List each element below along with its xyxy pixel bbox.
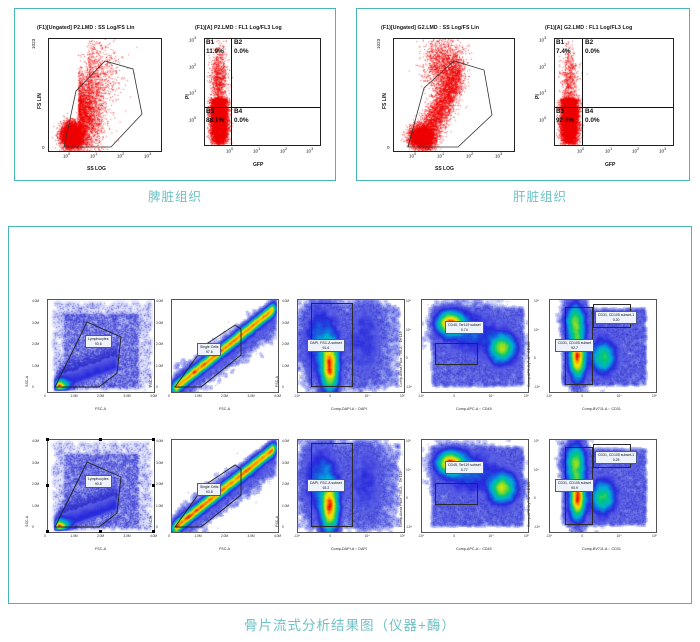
x-tick-2: 10⁴ <box>489 534 494 538</box>
selection-handle[interactable] <box>46 484 49 487</box>
plot-title: (F1)[Ungated] P2.LMD : SS Log/FS Lin <box>37 25 135 31</box>
quadrant-b4-value: 0.0% <box>585 117 600 124</box>
y-tick-4: 0 <box>32 385 34 389</box>
x-axis-label: SS LOG <box>87 166 106 172</box>
gate-box-cd45-ter119[interactable] <box>435 483 478 505</box>
y-tick-2: 0 <box>534 356 536 360</box>
gate-label-dapi-fsc-a-subset[interactable]: DAPI, FSC-A subset91.6 <box>307 339 345 352</box>
y-axis-label: SSC-A <box>25 376 29 387</box>
x-axis-label: SS LOG <box>435 166 454 172</box>
x-tick-0: -10⁴ <box>546 394 552 398</box>
gate-label-value: 0.25 <box>598 458 634 463</box>
quadrant-b2-value: 0.0% <box>585 48 600 55</box>
gate-polygon-single-cells[interactable] <box>171 299 277 391</box>
gate-polygon-single-cells[interactable] <box>171 439 277 531</box>
x-axis-label: Comp-BV711-A :: CD31 <box>582 547 621 551</box>
gate-label-value: 93.6 <box>88 342 109 347</box>
gate-label-dapi-fsc-a-subset[interactable]: DAPI, FSC-A subset93.2 <box>307 479 345 492</box>
y-tick-4: 0 <box>282 525 284 529</box>
x-tick-1: 0 <box>329 534 331 538</box>
y-tick-0: 10⁵ <box>406 299 411 303</box>
y-tick-0: 10⁵ <box>406 439 411 443</box>
x-axis-label: GFP <box>605 162 615 168</box>
y-tick-0: 4.0M <box>282 299 289 303</box>
x-tick-0: 100 <box>226 147 233 154</box>
y-tick-4: 0 <box>32 525 34 529</box>
x-tick-1: 1.0M <box>195 394 202 398</box>
plot-area <box>393 38 515 152</box>
y-tick-3: -10⁴ <box>406 525 412 529</box>
gate-label-cd45-ter119-subset[interactable]: CD45, Ter119 subset0.77 <box>445 461 484 474</box>
gate-label-value: 93.2 <box>310 486 342 491</box>
y-tick-2: 0 <box>406 356 408 360</box>
y-tick-0: 10⁵ <box>534 439 539 443</box>
x-axis-label: Comp-DAPI-A :: DAPI <box>331 407 367 411</box>
y-tick-2: 0 <box>406 496 408 500</box>
y-axis-label: SSC-A <box>25 516 29 527</box>
y-tick-3: 1.0M <box>32 504 39 508</box>
x-tick-3: 3.0M <box>248 394 255 398</box>
x-axis-label: Comp-APC-A :: CD45 <box>456 407 492 411</box>
x-tick-0: 0 <box>44 534 46 538</box>
x-axis-label: Comp-DAPI-A :: DAPI <box>331 547 367 551</box>
y-axis-label: PI <box>535 94 541 99</box>
quadrant-b3-value: 88.1% <box>206 117 224 124</box>
y-tick-1: 10⁴ <box>406 328 411 332</box>
quadrant-b1-value: 7.4% <box>556 48 571 55</box>
x-tick-4: 4.0M <box>274 394 281 398</box>
x-axis-label: FSC-A <box>95 547 106 551</box>
y-tick-0: 4.0M <box>32 439 39 443</box>
y-tick-1: 10⁴ <box>534 468 539 472</box>
x-tick-3: 10⁵ <box>652 534 657 538</box>
gate-label-lymphocytes[interactable]: Lymphocytes93.6 <box>85 335 112 348</box>
y-tick-1: 3.0M <box>156 321 163 325</box>
x-tick-2: 2.0M <box>221 534 228 538</box>
y-tick-1: 3.0M <box>32 321 39 325</box>
gate-label-lymphocytes[interactable]: Lymphocytes90.8 <box>85 475 112 488</box>
y-tick-3: -10⁴ <box>534 525 540 529</box>
x-tick-4: 4.0M <box>274 534 281 538</box>
gate-polygon[interactable] <box>49 39 161 151</box>
x-tick-1: 1.0M <box>71 394 78 398</box>
y-tick-0: 10⁵ <box>534 299 539 303</box>
selection-handle[interactable] <box>152 438 155 441</box>
bone-chip-panel: SSC-AFSC-A01.0M2.0M3.0M4.0M4.0M3.0M2.0M1… <box>8 226 692 604</box>
x-tick-0: -10⁴ <box>546 534 552 538</box>
quadrant-b4-name: B4 <box>585 108 593 115</box>
spleen-panel: (F1)[Ungated] P2.LMD : SS Log/FS Lin 102… <box>14 8 336 181</box>
x-tick-0: 100 <box>577 147 584 154</box>
y-tick-3: -10⁴ <box>406 385 412 389</box>
gate-label-value: 92.7 <box>558 346 591 351</box>
y-tick-1: 3.0M <box>156 461 163 465</box>
x-tick-1: 101 <box>437 152 444 159</box>
x-tick-3: 10⁵ <box>524 394 529 398</box>
x-tick-3: 103 <box>144 152 151 159</box>
x-tick-4: 4.0M <box>150 534 157 538</box>
y-tick-1: 3.0M <box>32 461 39 465</box>
y-axis-label: Comp-APC-Cy7-A :: CD105 <box>527 342 531 388</box>
x-tick-0: -10⁴ <box>294 534 300 538</box>
x-tick-2: 2.0M <box>97 394 104 398</box>
plot-title: (F1)[A] G2.LMD : FL1 Log/FL3 Log <box>545 25 632 31</box>
x-tick-2: 10⁴ <box>365 394 370 398</box>
quad-vertical-divider[interactable] <box>231 39 232 145</box>
x-tick-3: 3.0M <box>248 534 255 538</box>
x-tick-1: 1.0M <box>195 534 202 538</box>
x-tick-2: 102 <box>280 147 287 154</box>
x-tick-0: 0 <box>168 534 170 538</box>
gate-label-cd31-cd105-subset[interactable]: CD31, CD105 subset92.7 <box>555 339 594 352</box>
y-tick-0: 4.0M <box>156 299 163 303</box>
x-tick-3: 10⁵ <box>652 394 657 398</box>
y-tick-top: 1023 <box>31 39 36 49</box>
y-tick-0: 100 <box>189 116 196 123</box>
quadrant-b1-name: B1 <box>206 39 214 46</box>
x-axis-label: FSC-A <box>219 547 230 551</box>
x-tick-1: 101 <box>253 147 260 154</box>
y-tick-3: 1.0M <box>32 364 39 368</box>
y-tick-bottom: 0 <box>42 145 45 150</box>
quad-horizontal-divider[interactable] <box>555 107 673 108</box>
x-axis-label: GFP <box>253 162 263 168</box>
plot-liver-scatter: (F1)[Ungated] G2.LMD : SS Log/FS Lin 102… <box>357 9 525 182</box>
y-axis-label: Comp-Alexa Fluor 700-A :: Ter119 <box>399 471 403 527</box>
gate-label-value: 91.6 <box>310 346 342 351</box>
y-tick-2: 102 <box>539 63 546 70</box>
x-tick-1: 101 <box>90 152 97 159</box>
y-axis-label: FSC-A <box>275 376 279 387</box>
quadrant-b3-name: B3 <box>556 108 564 115</box>
y-tick-2: 0 <box>534 496 536 500</box>
quadrant-b3-value: 92.6% <box>556 117 574 124</box>
y-tick-2: 2.0M <box>282 482 289 486</box>
x-tick-2: 10⁴ <box>489 394 494 398</box>
caption-bone-chip: 骨片流式分析结果图（仪器+酶） <box>150 614 550 634</box>
x-tick-3: 10⁵ <box>400 534 405 538</box>
y-tick-4: 0 <box>282 385 284 389</box>
x-tick-0: 0 <box>44 394 46 398</box>
gate-label-value: 0.20 <box>598 318 634 323</box>
quadrant-b2-name: B2 <box>234 39 242 46</box>
x-tick-3: 103 <box>495 152 502 159</box>
y-tick-0: 100 <box>539 116 546 123</box>
x-tick-2: 102 <box>117 152 124 159</box>
y-axis-label: FS LIN <box>382 93 388 109</box>
x-tick-3: 3.0M <box>124 394 131 398</box>
selection-handle[interactable] <box>99 438 102 441</box>
liver-panel: (F1)[Ungated] G2.LMD : SS Log/FS Lin 102… <box>356 8 690 181</box>
gate-label-cd31-cd105-subset-1[interactable]: CD31, CD105 subset-10.25 <box>595 451 637 464</box>
y-tick-3: 103 <box>189 36 196 43</box>
plot-spleen-scatter: (F1)[Ungated] P2.LMD : SS Log/FS Lin 102… <box>15 9 175 182</box>
x-tick-2: 102 <box>632 147 639 154</box>
y-tick-2: 102 <box>189 63 196 70</box>
y-tick-1: 10⁴ <box>534 328 539 332</box>
gate-box-cd45-ter119[interactable] <box>435 343 478 365</box>
gate-label-value: 90.8 <box>88 482 109 487</box>
selection-handle[interactable] <box>152 484 155 487</box>
y-tick-3: 1.0M <box>282 364 289 368</box>
plot-area <box>48 38 162 152</box>
y-tick-0: 4.0M <box>156 439 163 443</box>
plot-title: (F1)[Ungated] G2.LMD : SS Log/FS Lin <box>381 25 479 31</box>
x-tick-2: 10⁴ <box>617 394 622 398</box>
x-tick-2: 10⁴ <box>365 534 370 538</box>
quad-vertical-divider[interactable] <box>582 39 583 145</box>
y-tick-top: 1023 <box>376 39 381 49</box>
x-tick-2: 2.0M <box>97 534 104 538</box>
y-tick-4: 0 <box>156 525 158 529</box>
plot-area <box>554 38 674 146</box>
x-tick-2: 102 <box>466 152 473 159</box>
x-tick-3: 103 <box>659 147 666 154</box>
y-tick-3: 1.0M <box>282 504 289 508</box>
y-axis-label: FSC-H <box>149 516 153 527</box>
y-tick-3: 1.0M <box>156 504 163 508</box>
y-axis-label: PI <box>185 94 191 99</box>
quadrant-b4-name: B4 <box>234 108 242 115</box>
x-tick-0: 100 <box>409 152 416 159</box>
y-tick-3: 1.0M <box>156 364 163 368</box>
y-axis-label: Comp-APC-Cy7-A :: CD105 <box>527 482 531 528</box>
quadrant-b4-value: 0.0% <box>234 117 249 124</box>
gate-label-value: 97.6 <box>200 350 218 355</box>
x-axis-label: Comp-APC-A :: CD45 <box>456 547 492 551</box>
x-tick-1: 1.0M <box>71 534 78 538</box>
gate-label-value: 0.77 <box>448 468 481 473</box>
y-tick-0: 4.0M <box>32 299 39 303</box>
quadrant-b3-name: B3 <box>206 108 214 115</box>
plot-spleen-quad: (F1)[A] P2.LMD : FL1 Log/FL3 Log B1 11.9… <box>175 9 337 182</box>
x-tick-1: 0 <box>581 394 583 398</box>
gate-label-cd31-cd105-subset-1[interactable]: CD31, CD105 subset-10.20 <box>595 311 637 324</box>
gate-label-cd45-ter119-subset[interactable]: CD45, Ter119 subset0.74 <box>445 321 484 334</box>
quadrant-b1-name: B1 <box>556 39 564 46</box>
x-tick-2: 10⁴ <box>617 534 622 538</box>
x-tick-1: 101 <box>605 147 612 154</box>
y-tick-3: -10⁴ <box>534 385 540 389</box>
x-tick-2: 2.0M <box>221 394 228 398</box>
quadrant-b2-value: 0.0% <box>234 48 249 55</box>
x-tick-0: 100 <box>63 152 70 159</box>
quadrant-b2-name: B2 <box>585 39 593 46</box>
y-tick-2: 2.0M <box>156 342 163 346</box>
gate-label-cd31-cd105-subset[interactable]: CD31, CD105 subset90.9 <box>555 479 594 492</box>
y-tick-2: 2.0M <box>32 482 39 486</box>
x-tick-1: 0 <box>329 394 331 398</box>
plot-title: (F1)[A] P2.LMD : FL1 Log/FL3 Log <box>195 25 282 31</box>
x-tick-3: 103 <box>306 147 313 154</box>
y-tick-1: 10⁴ <box>406 468 411 472</box>
gate-polygon[interactable] <box>394 39 514 151</box>
selection-handle[interactable] <box>152 530 155 533</box>
y-tick-3: 103 <box>539 36 546 43</box>
x-axis-label: FSC-A <box>95 407 106 411</box>
selection-handle[interactable] <box>99 530 102 533</box>
y-tick-0: 4.0M <box>282 439 289 443</box>
gate-label-single-cells[interactable]: Single Cells93.8 <box>197 483 221 496</box>
x-tick-4: 4.0M <box>150 394 157 398</box>
y-axis-label: FSC-H <box>149 376 153 387</box>
y-tick-1: 3.0M <box>282 461 289 465</box>
x-tick-3: 10⁵ <box>524 534 529 538</box>
selection-handle[interactable] <box>46 438 49 441</box>
x-tick-1: 0 <box>453 534 455 538</box>
x-tick-3: 3.0M <box>124 534 131 538</box>
y-tick-2: 2.0M <box>282 342 289 346</box>
gate-label-value: 93.8 <box>200 490 218 495</box>
gate-label-value: 0.74 <box>448 328 481 333</box>
x-tick-0: -10⁴ <box>294 394 300 398</box>
quadrant-b1-value: 11.9% <box>206 48 224 55</box>
x-tick-1: 0 <box>453 394 455 398</box>
selection-handle[interactable] <box>46 530 49 533</box>
caption-spleen: 脾脏组织 <box>90 186 260 205</box>
y-axis-label: FSC-A <box>275 516 279 527</box>
plot-liver-quad: (F1)[A] G2.LMD : FL1 Log/FL3 Log B1 7.4%… <box>525 9 691 182</box>
x-tick-0: -10⁴ <box>418 394 424 398</box>
x-axis-label: FSC-A <box>219 407 230 411</box>
x-tick-3: 10⁵ <box>400 394 405 398</box>
y-axis-label: FS LIN <box>37 93 43 109</box>
y-tick-2: 2.0M <box>32 342 39 346</box>
gate-label-value: 90.9 <box>558 486 591 491</box>
x-tick-0: 0 <box>168 394 170 398</box>
x-axis-label: Comp-BV711-A :: CD31 <box>582 407 621 411</box>
quad-horizontal-divider[interactable] <box>205 107 320 108</box>
x-tick-0: -10⁴ <box>418 534 424 538</box>
y-tick-4: 0 <box>156 385 158 389</box>
gate-label-single-cells[interactable]: Single Cells97.6 <box>197 343 221 356</box>
caption-liver: 肝脏组织 <box>455 186 625 205</box>
y-axis-label: Comp-Alexa Fluor 700-A :: Ter119 <box>399 331 403 387</box>
x-tick-1: 0 <box>581 534 583 538</box>
y-tick-bottom: 0 <box>387 145 390 150</box>
y-tick-1: 3.0M <box>282 321 289 325</box>
y-tick-2: 2.0M <box>156 482 163 486</box>
